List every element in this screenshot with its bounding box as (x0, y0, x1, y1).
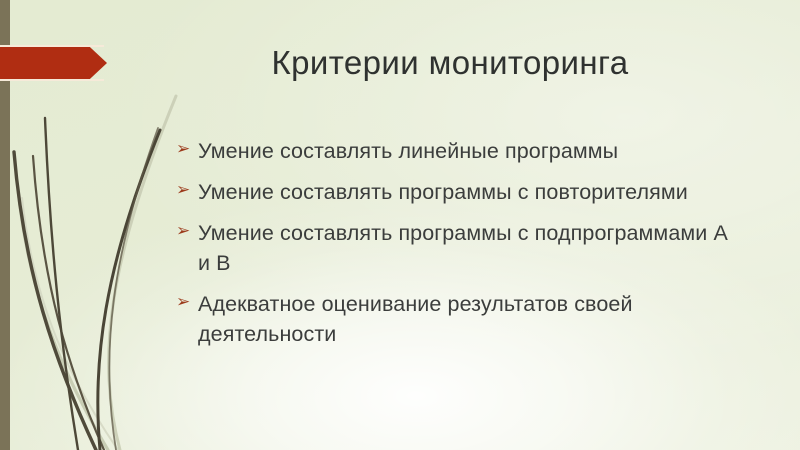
arrow-bullet-icon: ➢ (176, 293, 198, 310)
list-item: ➢ Умение составлять программы с повторит… (176, 177, 736, 207)
list-item: ➢ Умение составлять программы с подпрогр… (176, 218, 736, 278)
slide-title: Критерии мониторинга (120, 36, 780, 90)
banner-rule-top (0, 45, 104, 47)
arrow-bullet-icon: ➢ (176, 140, 198, 157)
bullet-list: ➢ Умение составлять линейные программы ➢… (176, 136, 736, 349)
list-item-text: Умение составлять программы с подпрограм… (198, 218, 736, 278)
list-item-text: Умение составлять линейные программы (198, 136, 736, 166)
red-arrow-banner (0, 47, 107, 79)
list-item: ➢ Адекватное оценивание результатов свое… (176, 289, 736, 349)
arrow-bullet-icon: ➢ (176, 181, 198, 198)
arrow-bullet-icon: ➢ (176, 222, 198, 239)
presentation-slide: Критерии мониторинга ➢ Умение составлять… (0, 0, 800, 450)
banner-rule-bottom (0, 79, 104, 81)
list-item-text: Адекватное оценивание результатов своей … (198, 289, 736, 349)
list-item-text: Умение составлять программы с повторител… (198, 177, 736, 207)
list-item: ➢ Умение составлять линейные программы (176, 136, 736, 166)
